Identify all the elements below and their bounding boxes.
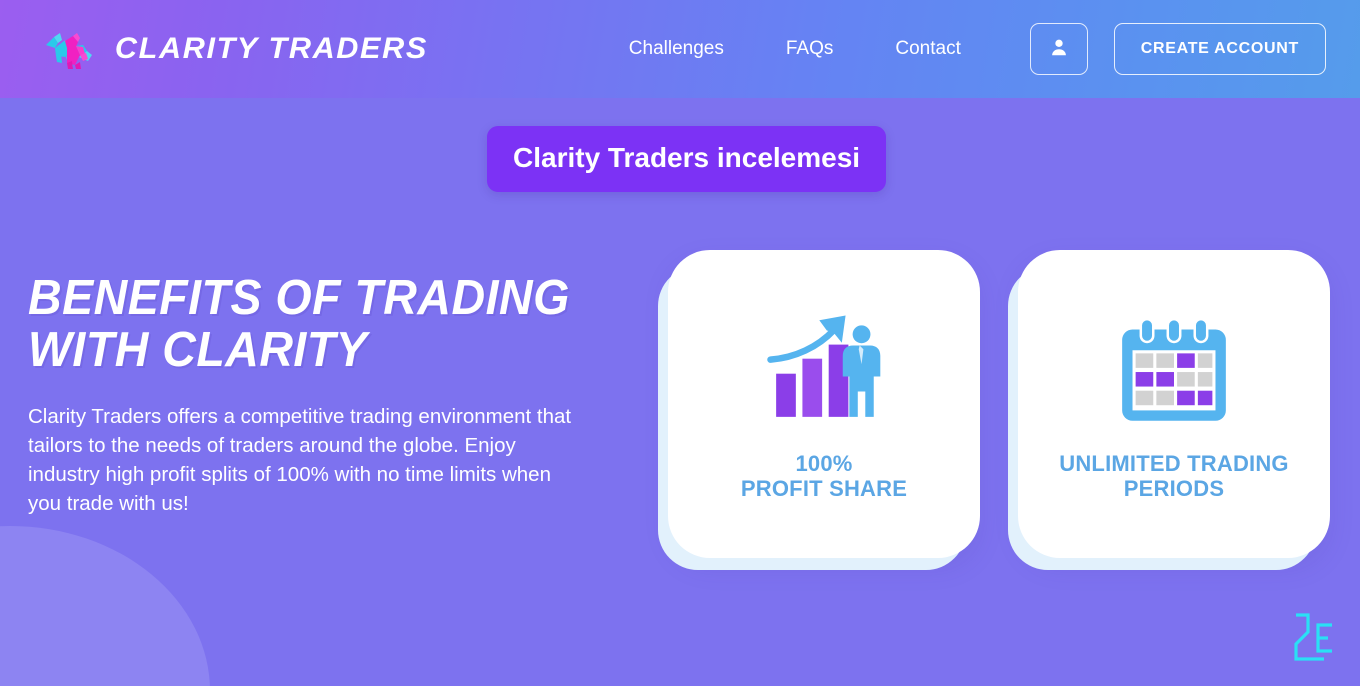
nav-link-contact[interactable]: Contact: [895, 38, 960, 60]
headline-line-2: WITH CLARITY: [28, 324, 598, 376]
brand-logo[interactable]: CLARITY TRADERS: [42, 27, 425, 71]
user-icon: [1048, 36, 1070, 63]
site-header: CLARITY TRADERS Challenges FAQs Contact …: [0, 0, 1360, 98]
page-title-badge: Clarity Traders incelemesi: [487, 126, 886, 192]
hero-text-column: BENEFITS OF TRADING WITH CLARITY Clarity…: [28, 272, 628, 518]
profit-share-value: 100%: [741, 451, 907, 476]
nav-link-challenges[interactable]: Challenges: [629, 38, 724, 60]
main-navigation: Challenges FAQs Contact: [629, 38, 961, 60]
brand-name: CLARITY TRADERS: [115, 32, 428, 66]
trading-periods-line-2: PERIODS: [1124, 476, 1224, 501]
account-button[interactable]: [1030, 23, 1088, 75]
profit-share-label: 100% PROFIT SHARE: [741, 451, 907, 501]
page-title: BENEFITS OF TRADING WITH CLARITY: [28, 272, 598, 376]
nav-link-faqs[interactable]: FAQs: [786, 38, 834, 60]
calendar-icon: [1118, 307, 1230, 425]
trading-periods-line-1: UNLIMITED TRADING: [1059, 451, 1289, 476]
background-blob: [0, 526, 210, 686]
bull-bear-logo-icon: [42, 27, 104, 71]
trading-periods-label: UNLIMITED TRADING PERIODS: [1059, 451, 1289, 501]
growth-chart-icon: [763, 307, 885, 425]
headline-line-1: BENEFITS OF TRADING: [28, 271, 570, 325]
profit-share-card[interactable]: 100% PROFIT SHARE: [668, 250, 980, 558]
header-actions: CREATE ACCOUNT: [1030, 23, 1326, 75]
trading-periods-card[interactable]: UNLIMITED TRADING PERIODS: [1018, 250, 1330, 558]
profit-share-caption: PROFIT SHARE: [741, 476, 907, 501]
clarity-monogram-icon: [1292, 611, 1336, 668]
feature-cards: 100% PROFIT SHARE: [668, 250, 1330, 558]
hero-paragraph: Clarity Traders offers a competitive tra…: [28, 402, 584, 518]
create-account-button[interactable]: CREATE ACCOUNT: [1114, 23, 1326, 75]
